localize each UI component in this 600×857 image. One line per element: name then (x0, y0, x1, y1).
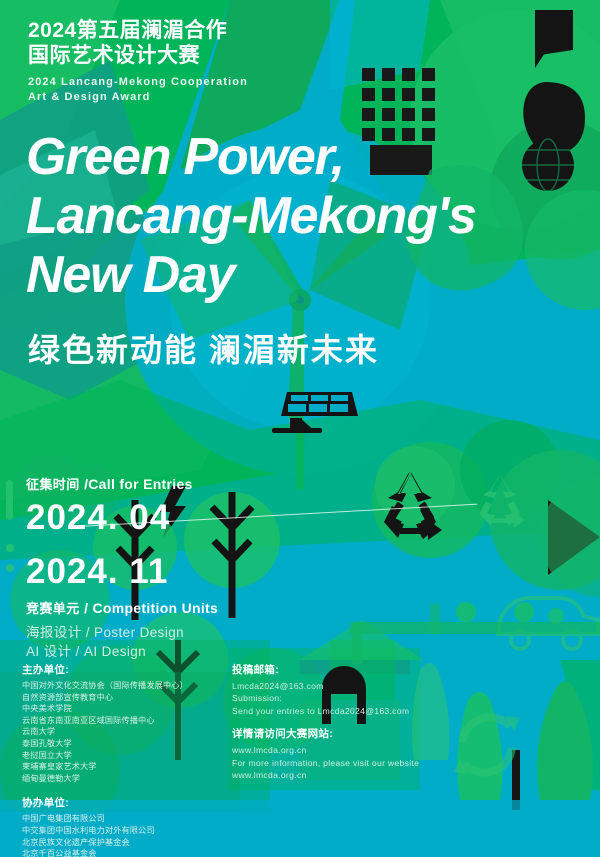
organizer-item: 自然资源部宣传教育中心 (22, 692, 237, 704)
header-title-cn-line2: 国际艺术设计大赛 (28, 43, 448, 68)
header-title-cn-line1: 2024第五届澜湄合作 (28, 18, 448, 43)
poster-header: 2024第五届澜湄合作 国际艺术设计大赛 2024 Lancang-Mekong… (28, 18, 448, 104)
organizers-block: 主办单位: 中国对外文化交流协会（国际传播发展中心） 自然资源部宣传教育中心 中… (22, 662, 237, 857)
title-line-2: Lancang-Mekong's (26, 187, 586, 246)
organizers-heading: 主办单位: (22, 662, 237, 677)
website-info-en: For more information, please visit our w… (232, 757, 482, 769)
unit-item-poster: 海报设计 / Poster Design (26, 623, 366, 642)
units-label-row: 竞赛单元 / Competition Units (26, 598, 366, 618)
co-organizer-item: 中国广电集团有限公司 (22, 813, 237, 825)
header-title-en-line1: 2024 Lancang-Mekong Cooperation (28, 75, 448, 90)
units-label-en: / Competition Units (84, 600, 218, 616)
organizer-item: 柬埔寨皇家艺术大学 (22, 761, 237, 773)
contact-spacer (232, 717, 482, 726)
call-for-entries-block: 征集时间 /Call for Entries 2024. 04 (26, 474, 366, 538)
poster-subtitle-cn: 绿色新动能 澜湄新未来 (28, 330, 379, 370)
poster-canvas: 2024第五届澜湄合作 国际艺术设计大赛 2024 Lancang-Mekong… (0, 0, 600, 857)
organizer-item: 泰国孔敬大学 (22, 738, 237, 750)
co-organizer-item: 北京民族文化遗产保护基金会 (22, 837, 237, 849)
co-organizers-heading: 协办单位: (22, 795, 237, 810)
entries-label-en: /Call for Entries (84, 476, 193, 492)
competition-units-block: 竞赛单元 / Competition Units 海报设计 / Poster D… (26, 598, 366, 661)
entries-end-date: 2024. 11 (26, 552, 168, 592)
poster-main-title: Green Power, Lancang-Mekong's New Day (26, 128, 586, 305)
email-address[interactable]: Lmcda2024@163.com (232, 680, 482, 692)
entries-start-date: 2024. 04 (26, 498, 366, 538)
organizer-item: 老挝国立大学 (22, 750, 237, 762)
title-line-3: New Day (26, 246, 586, 305)
organizer-item: 中央美术学院 (22, 703, 237, 715)
co-organizer-item: 中交集团中国水利电力对外有限公司 (22, 825, 237, 837)
website-heading: 详情请访问大赛网站: (232, 726, 482, 741)
email-submission-en: Send your entries to Lmcda2024@163.com (232, 705, 482, 717)
contact-block: 投稿邮箱: Lmcda2024@163.com Submission: Send… (232, 662, 482, 781)
website-url[interactable]: www.lmcda.org.cn (232, 744, 482, 756)
title-line-1: Green Power, (26, 128, 586, 187)
entries-label-row: 征集时间 /Call for Entries (26, 474, 366, 494)
co-organizer-item: 北京千百公益基金会 (22, 848, 237, 857)
email-submission-label: Submission: (232, 692, 482, 704)
units-label-cn: 竞赛单元 (26, 601, 80, 616)
organizer-item: 中国对外文化交流协会（国际传播发展中心） (22, 680, 237, 692)
email-heading: 投稿邮箱: (232, 662, 482, 677)
organizer-item: 云南大学 (22, 726, 237, 738)
website-url-secondary[interactable]: www.lmcda.org.cn (232, 769, 482, 781)
unit-item-ai: AI 设计 / AI Design (26, 642, 366, 661)
co-organizers-block: 协办单位: 中国广电集团有限公司 中交集团中国水利电力对外有限公司 北京民族文化… (22, 795, 237, 857)
organizer-item: 云南省东南亚南亚区域国际传播中心 (22, 715, 237, 727)
header-title-en-line2: Art & Design Award (28, 90, 448, 105)
entries-label-cn: 征集时间 (26, 477, 80, 492)
organizer-item: 缅甸曼德勒大学 (22, 773, 237, 785)
